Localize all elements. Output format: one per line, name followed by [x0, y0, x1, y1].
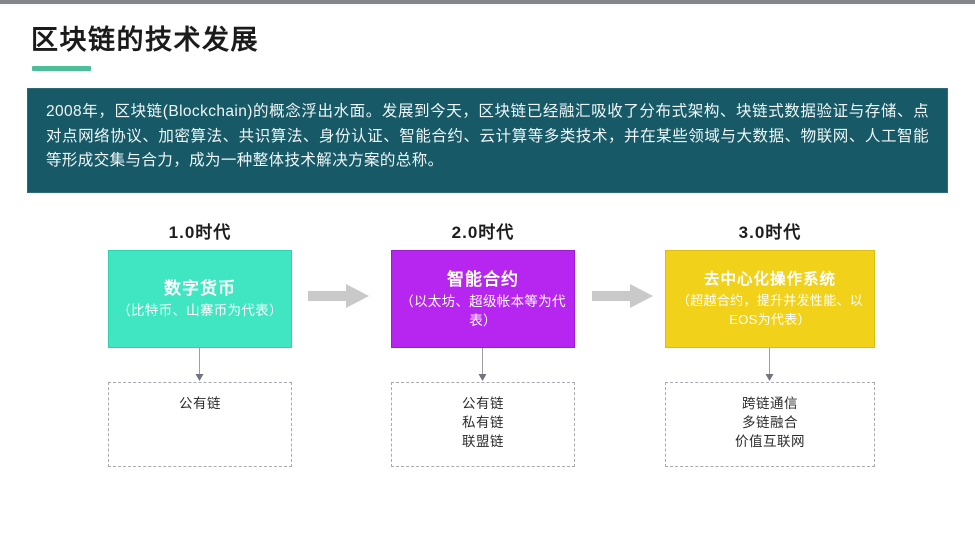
detail-line: 联盟链	[392, 432, 574, 451]
stage-card-subtitle: （超越合约，提升并发性能、以EOS为代表）	[672, 292, 868, 329]
title-underline-accent	[32, 66, 91, 71]
stage-card-smart-contract[interactable]: 智能合约 （以太坊、超级帐本等为代表）	[391, 250, 575, 348]
detail-box-stage-2: 公有链 私有链 联盟链	[391, 382, 575, 467]
stage-card-subtitle: （比特币、山寨币为代表）	[117, 301, 283, 320]
stage-card-decentralized-os[interactable]: 去中心化操作系统 （超越合约，提升并发性能、以EOS为代表）	[665, 250, 875, 348]
stage-card-title: 去中心化操作系统	[704, 269, 836, 291]
connector-arrow-down-icon	[764, 348, 775, 382]
detail-box-stage-1: 公有链	[108, 382, 292, 467]
detail-line: 公有链	[392, 394, 574, 413]
stage-card-title: 智能合约	[447, 269, 519, 291]
detail-line: 跨链通信	[666, 394, 874, 413]
stage-card-subtitle: （以太坊、超级帐本等为代表）	[398, 292, 568, 330]
right-arrow-icon	[308, 283, 370, 309]
detail-line: 多链融合	[666, 413, 874, 432]
detail-line: 价值互联网	[666, 432, 874, 451]
era-label-1.0: 1.0时代	[100, 218, 300, 243]
stage-card-digital-currency[interactable]: 数字货币 （比特币、山寨币为代表）	[108, 250, 292, 348]
detail-line: 公有链	[109, 394, 291, 413]
slide-canvas: 区块链的技术发展 2008年，区块链(Blockchain)的概念浮出水面。发展…	[0, 0, 975, 549]
right-arrow-icon	[592, 283, 654, 309]
stage-card-title: 数字货币	[164, 278, 236, 300]
detail-line: 私有链	[392, 413, 574, 432]
era-label-2.0: 2.0时代	[383, 218, 583, 243]
top-window-bar-shade	[0, 4, 975, 7]
intro-panel-text: 2008年，区块链(Blockchain)的概念浮出水面。发展到今天，区块链已经…	[46, 100, 929, 174]
page-title: 区块链的技术发展	[31, 23, 259, 57]
connector-arrow-down-icon	[477, 348, 488, 382]
connector-arrow-down-icon	[194, 348, 205, 382]
detail-box-stage-3: 跨链通信 多链融合 价值互联网	[665, 382, 875, 467]
era-label-3.0: 3.0时代	[670, 218, 870, 243]
intro-panel: 2008年，区块链(Blockchain)的概念浮出水面。发展到今天，区块链已经…	[27, 88, 948, 193]
